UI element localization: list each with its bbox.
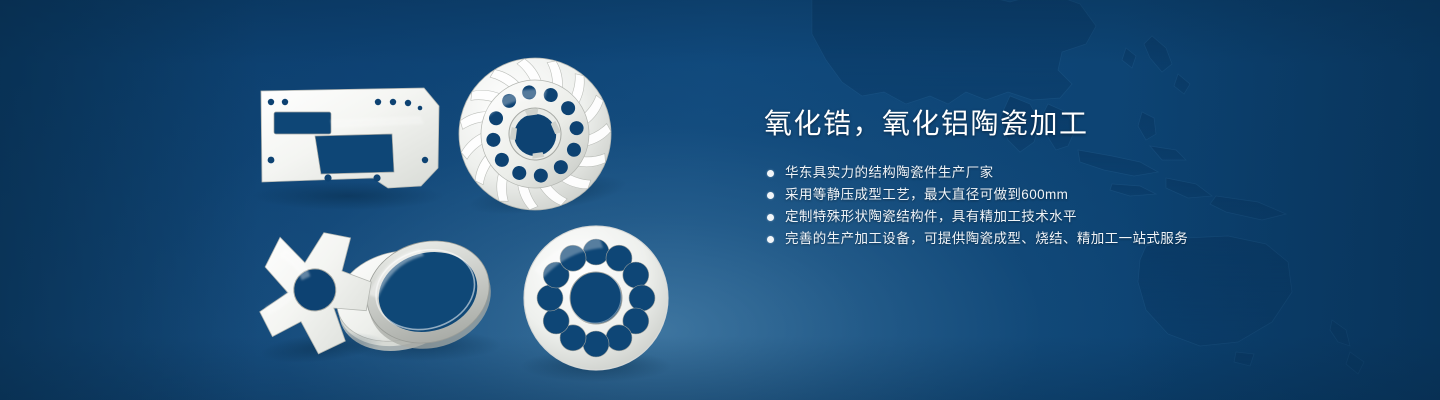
feature-text: 华东具实力的结构陶瓷件生产厂家 [785,162,994,184]
feature-list-item: 完善的生产加工设备，可提供陶瓷成型、烧结、精加工一站式服务 [764,228,1364,250]
bullet-dot-icon [767,214,774,221]
ceramic-finned-impeller-part [448,47,629,222]
ceramic-products-photo-group [0,0,760,400]
ceramic-mounting-plate-part [252,88,444,210]
banner-feature-list: 华东具实力的结构陶瓷件生产厂家 采用等静压成型工艺，最大直径可做到600mm 定… [764,162,1364,250]
bullet-dot-icon [767,170,774,177]
feature-list-item: 华东具实力的结构陶瓷件生产厂家 [764,162,1364,184]
ceramic-perforated-disc-part [520,226,672,382]
bullet-dot-icon [767,236,774,243]
banner-headline: 氧化锆，氧化铝陶瓷加工 [764,104,1364,144]
feature-text: 定制特殊形状陶瓷结构件，具有精加工技术水平 [785,206,1077,228]
ceramic-cross-vane-part [248,228,385,368]
ceramic-processing-banner: 氧化锆，氧化铝陶瓷加工 华东具实力的结构陶瓷件生产厂家 采用等静压成型工艺，最大… [0,0,1440,400]
feature-list-item: 定制特殊形状陶瓷结构件，具有精加工技术水平 [764,206,1364,228]
feature-list-item: 采用等静压成型工艺，最大直径可做到600mm [764,184,1364,206]
bullet-dot-icon [767,192,774,199]
feature-text: 采用等静压成型工艺，最大直径可做到600mm [785,184,1068,206]
banner-copy-block: 氧化锆，氧化铝陶瓷加工 华东具实力的结构陶瓷件生产厂家 采用等静压成型工艺，最大… [764,104,1364,250]
feature-text: 完善的生产加工设备，可提供陶瓷成型、烧结、精加工一站式服务 [785,228,1188,250]
